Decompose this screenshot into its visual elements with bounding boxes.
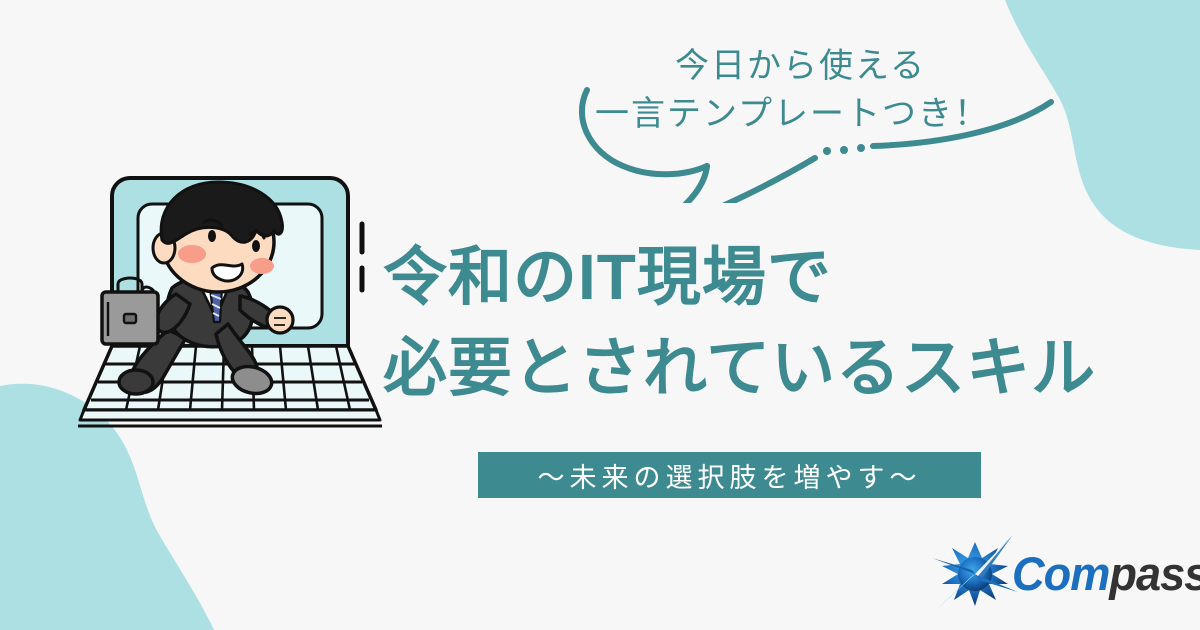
subtitle-banner: 〜未来の選択肢を増やす〜 — [478, 452, 981, 498]
subtitle-text: 〜未来の選択肢を増やす〜 — [538, 456, 922, 495]
character-fist — [267, 307, 293, 333]
character-shoe-back — [119, 370, 153, 394]
bubble-outline-right — [873, 102, 1051, 146]
speech-bubble: 今日から使える 一言テンプレートつき！ — [555, 18, 1135, 203]
compass-logo[interactable]: Compass — [932, 536, 1194, 610]
character-eye-left — [208, 230, 216, 242]
character-mouth — [212, 264, 243, 281]
headline-line-2: 必要とされているスキル — [383, 323, 1173, 414]
page-title: 令和のIT現場で 必要とされているスキル — [383, 232, 1173, 414]
bubble-tail — [661, 158, 815, 203]
banner-canvas: 今日から使える 一言テンプレートつき！ 令和のIT現場で 必要とされているスキル… — [0, 0, 1200, 630]
character-eye-right — [252, 240, 260, 252]
character-blush-left — [178, 245, 206, 263]
character-blush-right — [250, 258, 274, 274]
logo-word-com: Com — [1012, 547, 1109, 600]
bubble-ellipsis-dots — [823, 144, 865, 155]
compass-wordmark: Compass — [1012, 550, 1200, 597]
logo-word-pass: pass — [1109, 547, 1200, 600]
bubble-outline-left — [582, 90, 707, 174]
laptop-illustration — [40, 168, 390, 438]
headline-line-1: 令和のIT現場で — [383, 232, 1173, 323]
compass-star-icon — [932, 536, 1018, 610]
